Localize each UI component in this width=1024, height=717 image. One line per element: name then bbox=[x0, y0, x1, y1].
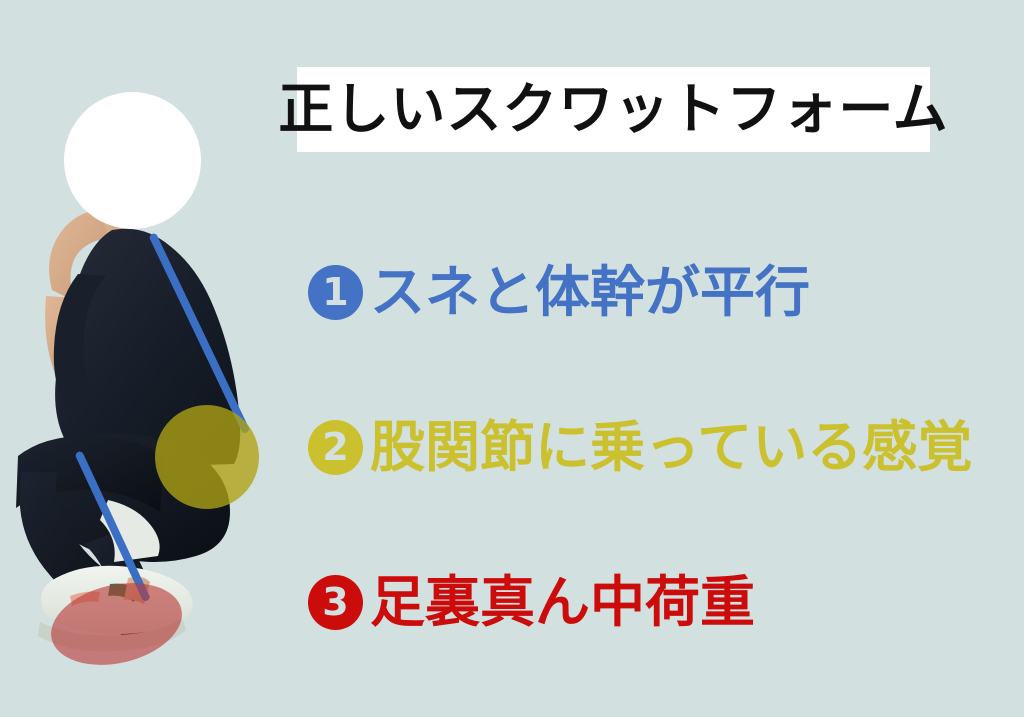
poster-canvas: 正しいスクワットフォーム 1 スネと体幹が平行 2 股関節に乗っている感覚 3 … bbox=[0, 0, 1024, 717]
page-title: 正しいスクワットフォーム bbox=[278, 82, 948, 137]
point-3-number-badge: 3 bbox=[308, 575, 363, 630]
point-item-3: 3 足裏真ん中荷重 bbox=[308, 525, 1014, 680]
point-1-number-badge: 1 bbox=[308, 265, 363, 320]
point-item-2: 2 股関節に乗っている感覚 bbox=[308, 370, 1014, 525]
title-box: 正しいスクワットフォーム bbox=[297, 67, 930, 152]
point-2-label: 股関節に乗っている感覚 bbox=[370, 420, 972, 475]
point-3-label: 足裏真ん中荷重 bbox=[370, 575, 755, 630]
face-mask-circle bbox=[64, 92, 201, 229]
squat-photo bbox=[0, 60, 300, 660]
hip-joint-marker-circle bbox=[155, 405, 259, 509]
points-list: 1 スネと体幹が平行 2 股関節に乗っている感覚 3 足裏真ん中荷重 bbox=[308, 215, 1014, 680]
point-2-number-badge: 2 bbox=[308, 420, 363, 475]
point-1-label: スネと体幹が平行 bbox=[370, 265, 810, 320]
point-item-1: 1 スネと体幹が平行 bbox=[308, 215, 1014, 370]
